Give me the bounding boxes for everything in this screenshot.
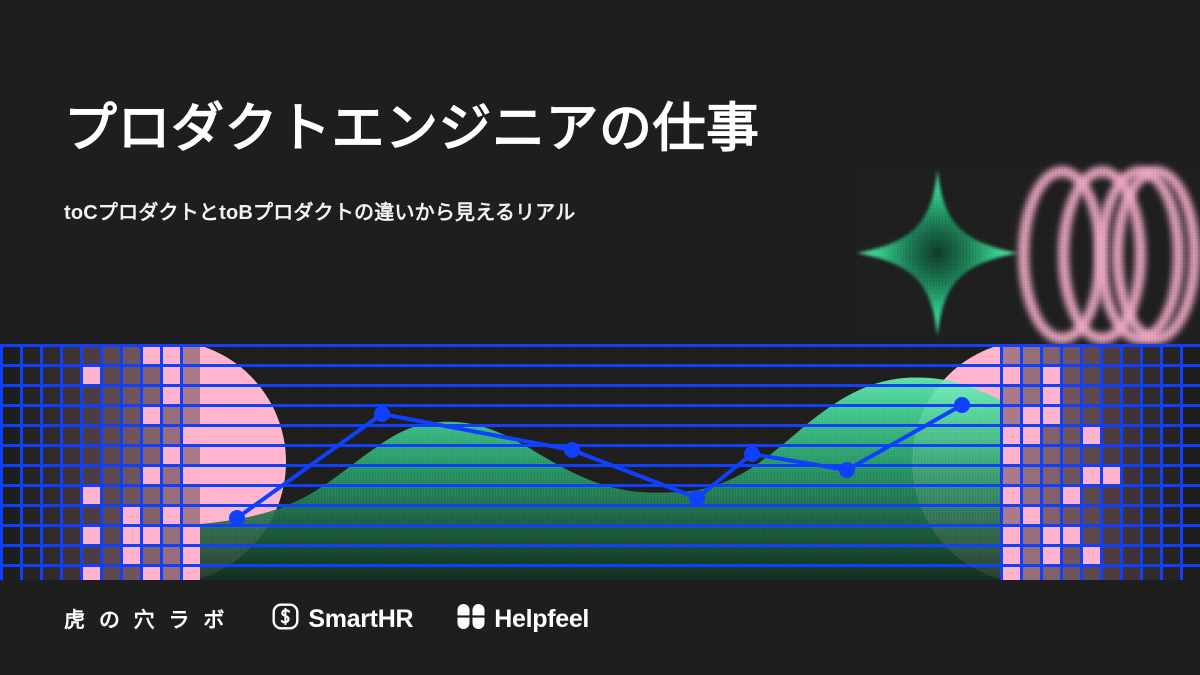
page-title: プロダクトエンジニアの仕事 — [64, 100, 760, 158]
logo-row: 虎 の 穴 ラ ボ SmartHR Helpfee — [64, 603, 589, 635]
logo-toranoana-lab-label: 虎 の 穴 ラ ボ — [64, 604, 228, 634]
triple-ring-icon — [1018, 166, 1200, 344]
logo-helpfeel[interactable]: Helpfeel — [457, 603, 589, 635]
chart-data-point — [564, 442, 580, 458]
smarthr-s-mark-icon — [272, 603, 299, 635]
logo-smarthr[interactable]: SmartHR — [272, 603, 413, 635]
logo-toranoana-lab[interactable]: 虎 の 穴 ラ ボ — [64, 604, 228, 634]
decorative-chart-band — [0, 344, 1200, 580]
chart-data-point — [839, 462, 855, 478]
chart-data-point — [374, 406, 390, 422]
four-point-star-icon — [855, 168, 1020, 338]
chart-data-point — [229, 510, 245, 526]
ring-4 — [1112, 166, 1200, 344]
chart-line — [237, 405, 962, 518]
logo-smarthr-label: SmartHR — [308, 605, 413, 634]
helpfeel-pill-mark-icon — [457, 603, 485, 635]
slide-root: プロダクトエンジニアの仕事 toCプロダクトとtoBプロダクトの違いから見えるリ… — [0, 0, 1200, 675]
logo-helpfeel-label: Helpfeel — [494, 605, 589, 634]
chart-data-point — [744, 446, 760, 462]
line-chart-overlay — [0, 344, 1200, 580]
page-subtitle: toCプロダクトとtoBプロダクトの違いから見えるリアル — [64, 196, 575, 225]
chart-data-point — [954, 397, 970, 413]
chart-data-point — [689, 490, 705, 506]
